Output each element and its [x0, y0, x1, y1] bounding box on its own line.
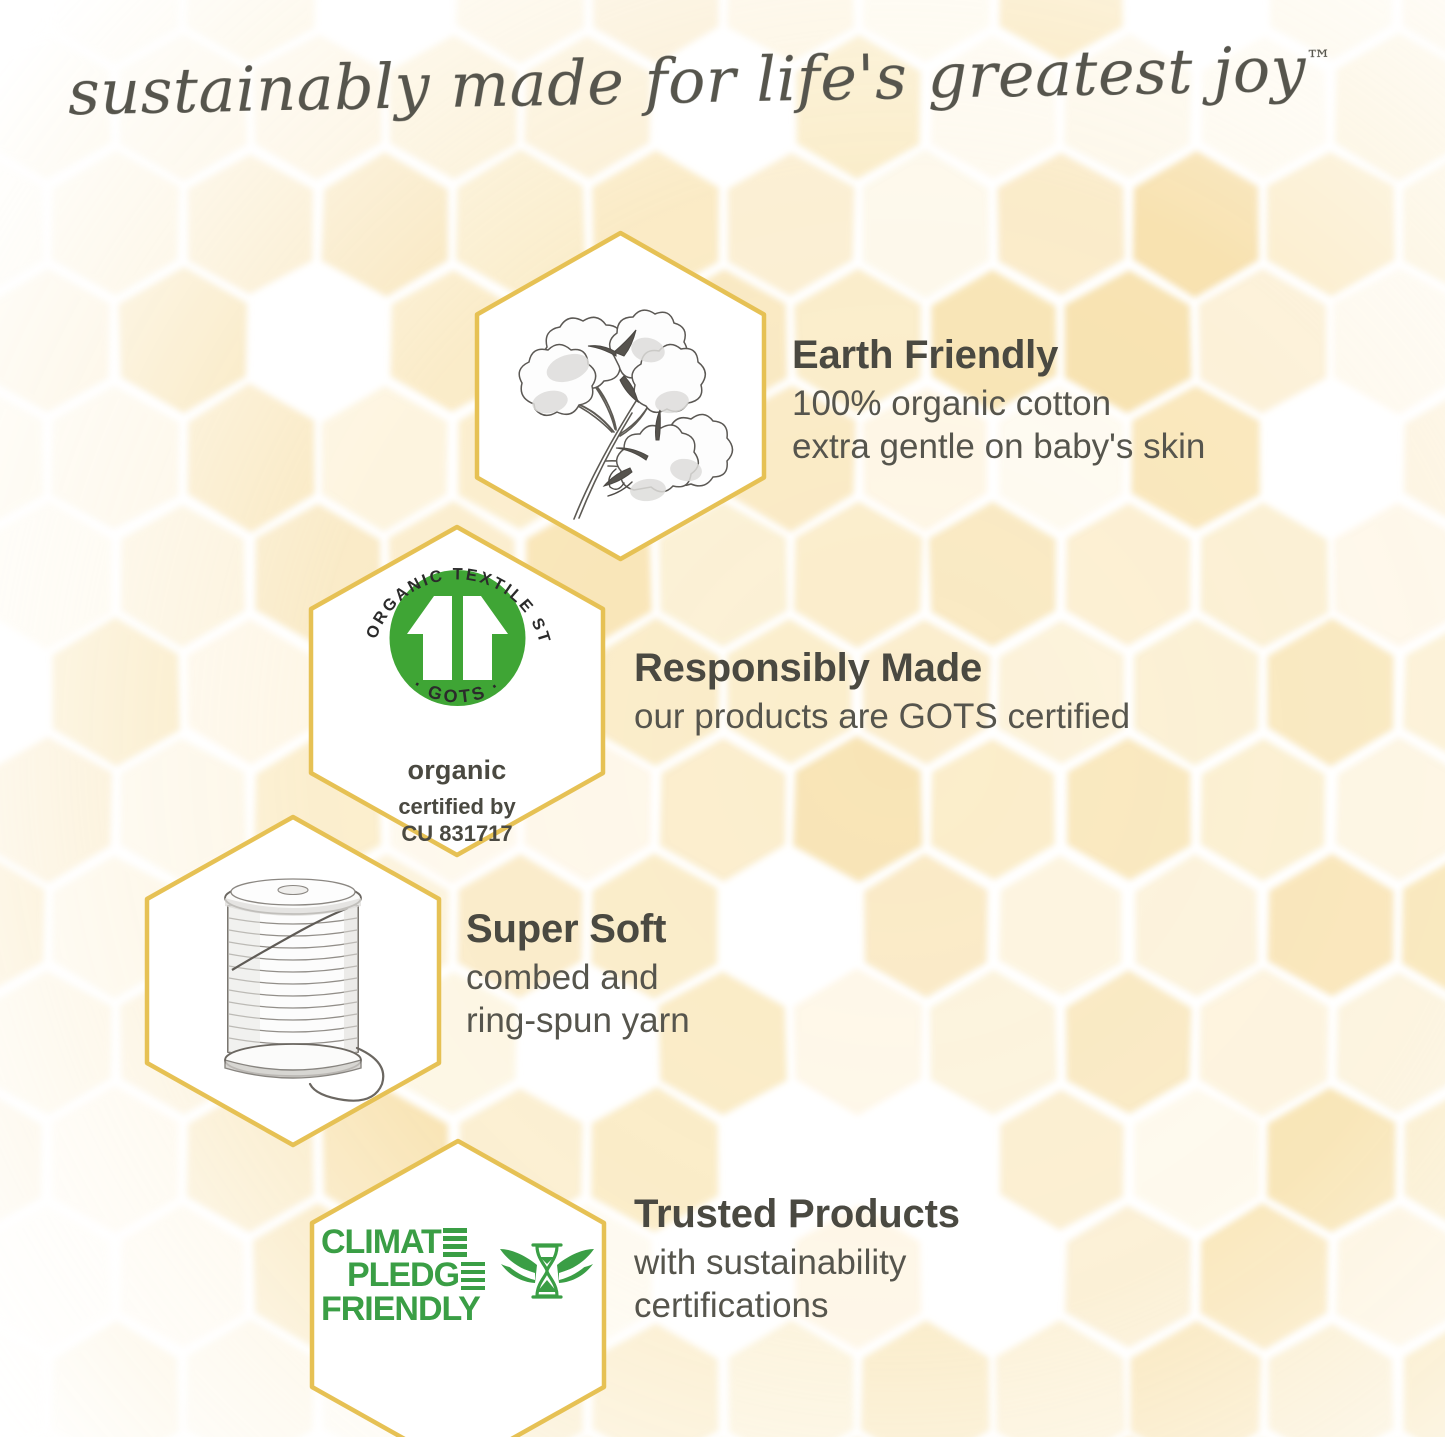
feature-text-responsibly-made: Responsibly Made our products are GOTS c…	[634, 646, 1130, 738]
gots-organic-certification-logo: GLOBAL ORGANIC TEXTILE STANDARD · GOTS ·…	[350, 534, 565, 848]
feature-hexagon-responsibly-made: GLOBAL ORGANIC TEXTILE STANDARD · GOTS ·…	[302, 522, 612, 860]
feature-title-responsibly-made: Responsibly Made	[634, 646, 1130, 691]
thread-spool-sketch-icon	[176, 856, 411, 1106]
climate-pledge-friendly-logo: CLIMAT PLEDG FRIENDLY	[321, 1226, 595, 1326]
gots-organic-label: organic	[408, 755, 507, 786]
feature-text-earth-friendly: Earth Friendly 100% organic cotton extra…	[792, 333, 1205, 469]
cpf-word-pledge: PLEDG	[347, 1259, 459, 1292]
feature-text-trusted-products: Trusted Products with sustainability cer…	[634, 1192, 960, 1328]
feature-hexagon-earth-friendly	[468, 228, 773, 564]
cotton-branch-sketch-icon	[496, 264, 746, 529]
feature-line-1: with sustainability	[634, 1241, 960, 1284]
feature-title-super-soft: Super Soft	[466, 907, 690, 952]
feature-line-1: combed and	[466, 956, 690, 999]
feature-text-super-soft: Super Soft combed and ring-spun yarn	[466, 907, 690, 1043]
winged-hourglass-icon	[499, 1237, 595, 1315]
feature-line-1: 100% organic cotton	[792, 382, 1205, 425]
feature-line-2: certifications	[634, 1284, 960, 1327]
cpf-word-climate: CLIMAT	[321, 1226, 441, 1259]
feature-hexagon-trusted-products: CLIMAT PLEDG FRIENDLY	[303, 1136, 613, 1437]
feature-title-trusted-products: Trusted Products	[634, 1192, 960, 1237]
cpf-word-friendly: FRIENDLY	[321, 1293, 480, 1326]
feature-hexagon-super-soft	[138, 812, 448, 1150]
trademark-symbol: ™	[1306, 45, 1333, 75]
cpf-bars-e2	[461, 1262, 485, 1291]
feature-title-earth-friendly: Earth Friendly	[792, 333, 1205, 378]
feature-line-2: extra gentle on baby's skin	[792, 425, 1205, 468]
cpf-bars-e1	[443, 1228, 467, 1257]
sustainability-infographic: sustainably made for life's greatest joy…	[0, 0, 1445, 1437]
feature-line-2: ring-spun yarn	[466, 999, 690, 1042]
feature-line-1: our products are GOTS certified	[634, 695, 1130, 738]
